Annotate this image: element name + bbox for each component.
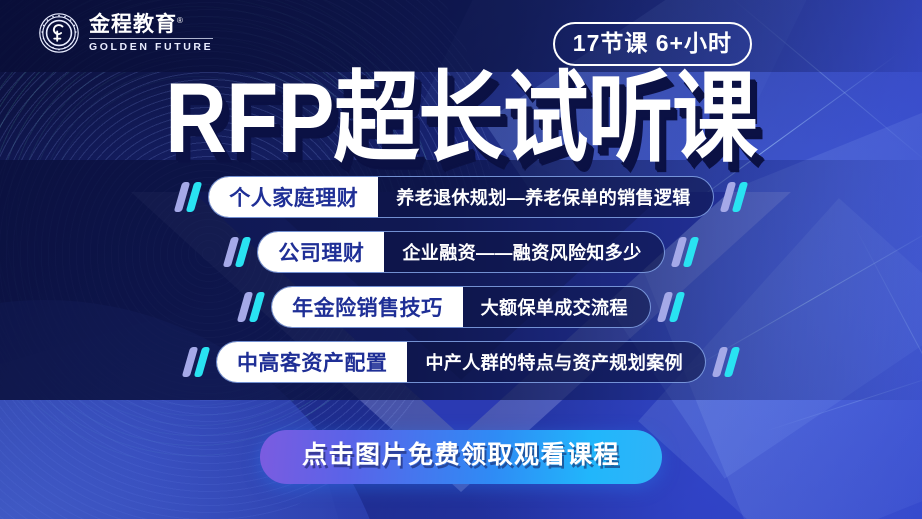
course-pill[interactable]: 公司理财 企业融资——融资风险知多少 [257,231,664,273]
course-description: 大额保单成交流程 [463,287,650,327]
course-tag: 年金险销售技巧 [272,287,463,327]
course-tag: 中高客资产配置 [217,342,408,382]
course-description: 中产人群的特点与资产规划案例 [407,342,705,382]
course-tag: 公司理财 [258,232,384,272]
brand-logo: 金程教育® GOLDEN FUTURE [38,12,213,54]
slash-decoration-left [241,292,261,322]
slash-decoration-right [724,182,744,212]
course-count-badge: 17节课 6+小时 [553,22,752,66]
course-pill[interactable]: 年金险销售技巧 大额保单成交流程 [271,286,651,328]
course-row[interactable]: 公司理财 企业融资——融资风险知多少 [0,229,922,275]
slash-decoration-right [716,347,736,377]
course-row[interactable]: 个人家庭理财 养老退休规划—养老保单的销售逻辑 [0,174,922,220]
course-row[interactable]: 年金险销售技巧 大额保单成交流程 [0,284,922,330]
slash-decoration-left [227,237,247,267]
cta-button[interactable]: 点击图片免费领取观看课程 [260,430,662,484]
course-list: 个人家庭理财 养老退休规划—养老保单的销售逻辑 公司理财 企业融资——融资风险知… [0,174,922,394]
brand-name-en: GOLDEN FUTURE [89,38,213,54]
slash-decoration-right [661,292,681,322]
promo-banner: 金程教育® GOLDEN FUTURE 17节课 6+小时 RFP超长试听课 个… [0,0,922,519]
course-description: 养老退休规划—养老保单的销售逻辑 [378,177,712,217]
slash-decoration-left [178,182,198,212]
golden-future-seal-icon [38,12,80,54]
page-title: RFP超长试听课 [0,68,922,167]
registered-mark: ® [177,16,184,25]
course-pill[interactable]: 个人家庭理财 养老退休规划—养老保单的销售逻辑 [208,176,713,218]
brand-name-cn: 金程教育® [89,13,213,36]
course-description: 企业融资——融资风险知多少 [384,232,663,272]
course-tag: 个人家庭理财 [209,177,378,217]
course-row[interactable]: 中高客资产配置 中产人群的特点与资产规划案例 [0,339,922,385]
slash-decoration-right [675,237,695,267]
slash-decoration-left [186,347,206,377]
course-pill[interactable]: 中高客资产配置 中产人群的特点与资产规划案例 [216,341,706,383]
